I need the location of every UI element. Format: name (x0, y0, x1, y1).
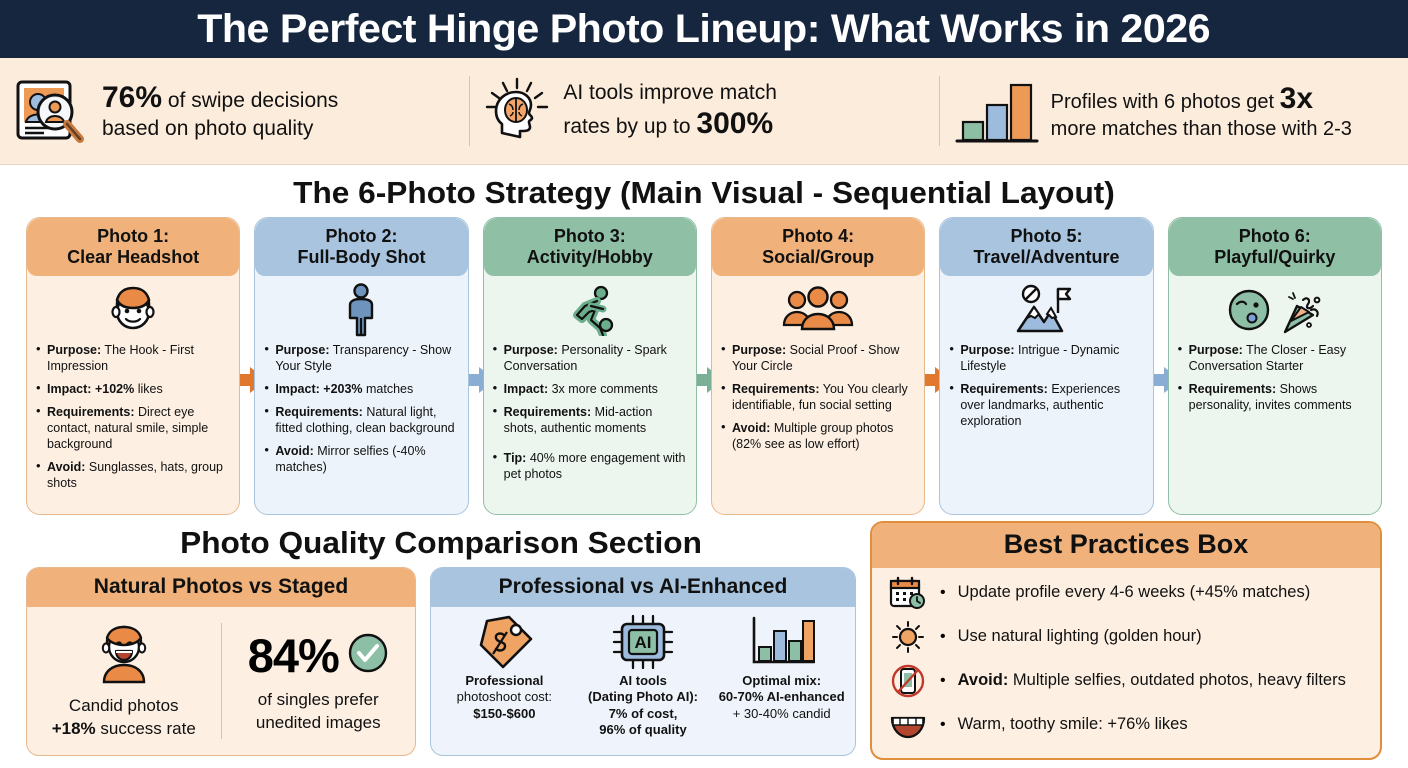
comparison-column: Photo Quality Comparison Section Natural… (26, 515, 856, 756)
optimal-mix-caption: Optimal mix: 60-70% AI-enhanced + 30-40%… (715, 673, 848, 722)
professional-caption: Professional photoshoot cost: $150-$600 (438, 673, 571, 722)
stat-item-ai-tools: AI tools improve match rates by up to 30… (469, 58, 938, 164)
ai-l2: (Dating Photo AI): (588, 689, 698, 704)
candid-bold: +18% (52, 719, 96, 738)
unedited-line2: unedited images (256, 713, 381, 732)
stat-line2-3: more matches than those with 2-3 (1051, 118, 1352, 140)
strategy-heading: The 6-Photo Strategy (Main Visual - Sequ… (0, 165, 1408, 217)
candid-photos-block: Candid photos +18% success rate (27, 622, 221, 739)
prof-l2: photoshoot cost: (457, 689, 552, 704)
card1-title-line2: Clear Headshot (67, 247, 199, 267)
arrow-slot-1 (240, 217, 254, 515)
photo-card-6-header: Photo 6: Playful/Quirky (1169, 218, 1381, 276)
mix-l3: + 30-40% candid (733, 706, 831, 721)
ai-panel-body: Professional photoshoot cost: $150-$600 (431, 607, 855, 755)
photo-card-4-bullets: Purpose: Social Proof - Show Your Circle… (721, 342, 915, 452)
photo-card-5-bullets: Purpose: Intrigue - Dynamic Lifestyle Re… (949, 342, 1143, 429)
best-practice-text: Update profile every 4-6 weeks (+45% mat… (958, 583, 1311, 603)
ai-tools-caption: AI tools (Dating Photo AI): 7% of cost, … (577, 673, 710, 738)
candid-line2: success rate (96, 719, 196, 738)
arrow-slot-4 (925, 217, 939, 515)
bar-chart-icon (951, 76, 1041, 146)
ai-chip-icon: AI (577, 611, 710, 673)
photo-card-4-body: Purpose: Social Proof - Show Your Circle… (712, 276, 924, 514)
avoid-label: Avoid: (958, 671, 1009, 689)
list-item: Purpose: Transparency - Show Your Style (264, 342, 458, 374)
list-item: Avoid: Mirror selfies (-40% matches) (264, 443, 458, 475)
candid-caption: Candid photos +18% success rate (33, 695, 215, 739)
avoid-text: Multiple selfies, outdated photos, heavy… (1008, 671, 1346, 689)
mix-l1: Optimal mix: (742, 673, 821, 688)
photo-card-2-header: Photo 2: Full-Body Shot (255, 218, 467, 276)
card4-title-line2: Social/Group (762, 247, 874, 267)
best-practice-text: Avoid: Multiple selfies, outdated photos… (958, 671, 1346, 691)
photo-strategy-cards: Photo 1: Clear Headshot (0, 217, 1408, 515)
best-practices-column: Best Practices Box (870, 515, 1382, 760)
card6-title-line1: Photo 6: (1239, 226, 1311, 246)
stat-rest-1: of swipe decisions (162, 89, 338, 112)
no-phone-icon (886, 664, 930, 698)
card3-title-line2: Activity/Hobby (527, 247, 653, 267)
infographic-page: The Perfect Hinge Photo Lineup: What Wor… (0, 0, 1408, 768)
bullet-dot: • (940, 628, 946, 646)
stat-value-76: 76% (102, 81, 162, 114)
stats-bar: 76% of swipe decisions based on photo qu… (0, 58, 1408, 165)
photo-card-4-header: Photo 4: Social/Group (712, 218, 924, 276)
headshot-face-icon (36, 282, 230, 338)
stat-value-84: 84% (248, 628, 339, 683)
list-item: • Use natural lighting (golden hour) (886, 620, 1366, 654)
ai-l4: 96% of quality (599, 722, 686, 737)
comparison-heading: Photo Quality Comparison Section (18, 515, 865, 567)
stat-text-swipe: 76% of swipe decisions based on photo qu… (102, 80, 338, 142)
arrow-slot-2 (469, 217, 483, 515)
list-item: Requirements: Experiences over landmarks… (949, 381, 1143, 429)
card2-title-line2: Full-Body Shot (298, 247, 426, 267)
bullet-dot: • (940, 716, 946, 734)
stat-value-3x: 3x (1280, 82, 1313, 115)
photo-card-5[interactable]: Photo 5: Travel/Adventure Pu (939, 217, 1153, 515)
ai-panel-title: Professional vs AI-Enhanced (431, 568, 855, 607)
list-item: Impact: +203% matches (264, 381, 458, 397)
mountain-flag-icon (949, 282, 1143, 338)
list-item: Requirements: Shows personality, invites… (1178, 381, 1372, 413)
list-item: • Avoid: Multiple selfies, outdated phot… (886, 664, 1366, 698)
stat-line2-1: based on photo quality (102, 117, 313, 140)
photo-card-6[interactable]: Photo 6: Playful/Quirky (1168, 217, 1382, 515)
photo-card-2-body: Purpose: Transparency - Show Your Style … (255, 276, 467, 514)
group-people-icon (721, 282, 915, 338)
stat-text-photos: Profiles with 6 photos get 3x more match… (1051, 81, 1352, 142)
best-practices-title: Best Practices Box (872, 523, 1380, 568)
smile-teeth-icon (886, 708, 930, 742)
stat-line1-2: AI tools improve match (563, 81, 777, 104)
ai-l1: AI tools (619, 673, 667, 688)
comparison-panels: Natural Photos vs Staged (26, 567, 856, 756)
photo-card-6-bullets: Purpose: The Closer - Easy Conversation … (1178, 342, 1372, 413)
list-item: Requirements: Direct eye contact, natura… (36, 404, 230, 452)
stat-value-300: 300% (696, 107, 773, 140)
photo-card-3-header: Photo 3: Activity/Hobby (484, 218, 696, 276)
list-item: Impact: 3x more comments (493, 381, 687, 397)
photo-card-2[interactable]: Photo 2: Full-Body Shot Purpose: Transpa… (254, 217, 468, 515)
list-item: Purpose: Personality - Spark Conversatio… (493, 342, 687, 374)
card4-title-line1: Photo 4: (782, 226, 854, 246)
list-item: Requirements: Mid-action shots, authenti… (493, 404, 687, 436)
mix-l2: 60-70% AI-enhanced (719, 689, 845, 704)
best-practices-box[interactable]: Best Practices Box (870, 521, 1382, 760)
list-item: Purpose: The Hook - First Impression (36, 342, 230, 374)
photo-card-3-body: Purpose: Personality - Spark Conversatio… (484, 276, 696, 514)
arrow-slot-3 (697, 217, 711, 515)
brain-head-icon (481, 76, 553, 146)
calendar-clock-icon (886, 576, 930, 610)
running-soccer-icon (493, 282, 687, 338)
photo-card-3[interactable]: Photo 3: Activity/Hobby Purpose: Persona… (483, 217, 697, 515)
list-item: Requirements: You You clearly identifiab… (721, 381, 915, 413)
ai-tools-block: AI AI tools (Dating Photo AI): 7% of cos… (574, 611, 713, 755)
photo-card-5-body: Purpose: Intrigue - Dynamic Lifestyle Re… (940, 276, 1152, 514)
list-item: • Update profile every 4-6 weeks (+45% m… (886, 576, 1366, 610)
arrow-slot-5 (1154, 217, 1168, 515)
natural-vs-staged-panel[interactable]: Natural Photos vs Staged (26, 567, 416, 756)
list-item: Impact: +102% likes (36, 381, 230, 397)
list-item: Avoid: Sunglasses, hats, group shots (36, 459, 230, 491)
card6-title-line2: Playful/Quirky (1214, 247, 1335, 267)
best-practices-list: • Update profile every 4-6 weeks (+45% m… (872, 568, 1380, 758)
stat-84-row: 84% (228, 628, 410, 683)
card5-title-line2: Travel/Adventure (973, 247, 1119, 267)
ai-l3: 7% of cost, (609, 706, 678, 721)
photo-card-2-bullets: Purpose: Transparency - Show Your Style … (264, 342, 458, 475)
stat-text-ai: AI tools improve match rates by up to 30… (563, 80, 777, 142)
photo-card-1-header: Photo 1: Clear Headshot (27, 218, 239, 276)
professional-cost-block: Professional photoshoot cost: $150-$600 (435, 611, 574, 755)
photo-card-5-header: Photo 5: Travel/Adventure (940, 218, 1152, 276)
list-item: Requirements: Natural light, fitted clot… (264, 404, 458, 436)
svg-text:AI: AI (635, 633, 652, 652)
stat-pre-2: rates by up to (563, 115, 696, 138)
title-bar: The Perfect Hinge Photo Lineup: What Wor… (0, 0, 1408, 58)
best-practice-text: Use natural lighting (golden hour) (958, 627, 1202, 647)
photo-card-1-bullets: Purpose: The Hook - First Impression Imp… (36, 342, 230, 491)
best-practice-text: Warm, toothy smile: +76% likes (958, 715, 1188, 735)
stat-pre-3: Profiles with 6 photos get (1051, 91, 1280, 113)
card2-title-line1: Photo 2: (325, 226, 397, 246)
photo-card-6-body: Purpose: The Closer - Easy Conversation … (1169, 276, 1381, 514)
photo-search-icon (12, 76, 88, 146)
check-circle-icon (347, 632, 389, 679)
unedited-caption: of singles prefer unedited images (228, 689, 410, 733)
natural-panel-title: Natural Photos vs Staged (27, 568, 415, 607)
optimal-mix-block: Optimal mix: 60-70% AI-enhanced + 30-40%… (712, 611, 851, 755)
bullet-dot: • (940, 672, 946, 690)
standing-person-icon (264, 282, 458, 338)
photo-card-3-bullets: Purpose: Personality - Spark Conversatio… (493, 342, 687, 482)
prof-l1: Professional (465, 673, 543, 688)
list-item: Tip: 40% more engagement with pet photos (493, 450, 687, 482)
stat-item-swipe-decisions: 76% of swipe decisions based on photo qu… (0, 58, 469, 164)
photo-card-4[interactable]: Photo 4: Social/Group Purpose: Social Pr… (711, 217, 925, 515)
list-item: Purpose: Intrigue - Dynamic Lifestyle (949, 342, 1143, 374)
prof-l3: $150-$600 (473, 706, 535, 721)
unedited-preference-block: 84% of singles prefer un (222, 628, 416, 733)
list-item: Avoid: Multiple group photos (82% see as… (721, 420, 915, 452)
photo-card-1-body: Purpose: The Hook - First Impression Imp… (27, 276, 239, 514)
card3-title-line1: Photo 3: (554, 226, 626, 246)
sun-icon (886, 620, 930, 654)
candid-line1: Candid photos (69, 696, 179, 715)
card5-title-line1: Photo 5: (1010, 226, 1082, 246)
natural-panel-body: Candid photos +18% success rate 84% (27, 607, 415, 755)
list-item: Purpose: The Closer - Easy Conversation … (1178, 342, 1372, 374)
page-title: The Perfect Hinge Photo Lineup: What Wor… (198, 7, 1211, 52)
list-item: • Warm, toothy smile: +76% likes (886, 708, 1366, 742)
bar-chart-mix-icon (715, 611, 848, 673)
professional-vs-ai-panel[interactable]: Professional vs AI-Enhanced (430, 567, 856, 756)
price-tag-icon (438, 611, 571, 673)
kissing-face-party-icon (1178, 282, 1372, 338)
bottom-section: Photo Quality Comparison Section Natural… (0, 515, 1408, 766)
bullet-dot: • (940, 584, 946, 602)
photo-card-1[interactable]: Photo 1: Clear Headshot (26, 217, 240, 515)
card1-title-line1: Photo 1: (97, 226, 169, 246)
list-item: Purpose: Social Proof - Show Your Circle (721, 342, 915, 374)
smiling-person-icon (33, 622, 215, 689)
unedited-line1: of singles prefer (258, 690, 379, 709)
stat-item-six-photos: Profiles with 6 photos get 3x more match… (939, 58, 1408, 164)
